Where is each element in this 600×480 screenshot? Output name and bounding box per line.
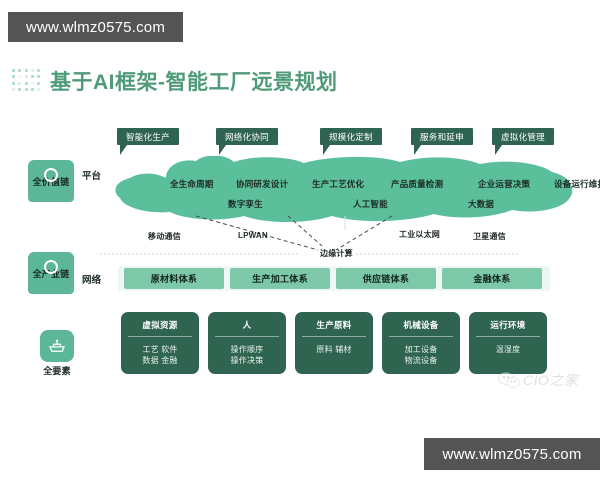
diagram-canvas: www.wlmz0575.com www.wlmz0575.com 基于AI框架… — [0, 0, 600, 480]
capability-ribbon[interactable]: 规模化定制 — [320, 128, 382, 145]
element-card-body: 工艺 软件数据 金融 — [121, 337, 199, 366]
network-system-bar[interactable]: 供应链体系 — [336, 268, 436, 289]
capability-ribbon[interactable]: 服务和延申 — [411, 128, 473, 145]
page-header: 基于AI框架-智能工厂远景规划 — [12, 66, 338, 96]
capability-ribbon-label: 智能化生产 — [126, 131, 170, 143]
capability-ribbon-label: 规模化定制 — [329, 131, 373, 143]
network-technology-label: 移动通信 — [148, 231, 181, 242]
capability-ribbon-label: 服务和延申 — [420, 131, 464, 143]
capability-ribbon-label: 虚拟化管理 — [501, 131, 545, 143]
value-chain-icon: 全价值链 — [28, 160, 74, 202]
stage-value-chain[interactable]: 全价值链 — [28, 160, 74, 202]
element-card-title: 运行环境 — [469, 312, 547, 331]
cio-logo: CIO之家 — [498, 370, 578, 390]
element-card[interactable]: 运行环境温湿度 — [469, 312, 547, 374]
element-card-title: 虚拟资源 — [121, 312, 199, 331]
element-card[interactable]: 生产原料原料 辅材 — [295, 312, 373, 374]
wechat-icon — [498, 372, 520, 388]
element-card-line: 操作顺序 — [208, 344, 286, 355]
element-card-line: 加工设备 — [382, 344, 460, 355]
platform-capability-label: 企业运营决策 — [478, 178, 530, 190]
platform-technology-label: 人工智能 — [353, 198, 388, 210]
page-title: 基于AI框架-智能工厂远景规划 — [50, 66, 338, 96]
element-card[interactable]: 虚拟资源工艺 软件数据 金融 — [121, 312, 199, 374]
element-card-body: 温湿度 — [469, 337, 547, 355]
element-card-line: 数据 金融 — [121, 355, 199, 366]
network-technology-label: 边缘计算 — [320, 248, 353, 259]
element-card-line: 操作决策 — [208, 355, 286, 366]
platform-capability-label: 产品质量检测 — [391, 178, 443, 190]
element-card-title: 生产原料 — [295, 312, 373, 331]
capability-ribbon[interactable]: 智能化生产 — [117, 128, 179, 145]
network-system-bar[interactable]: 金融体系 — [442, 268, 542, 289]
platform-capability-label: 协同研发设计 — [236, 178, 288, 190]
ribbon-tail — [120, 145, 127, 155]
element-card-body: 原料 辅材 — [295, 337, 373, 355]
ship-icon — [40, 330, 74, 362]
cloud-shape-icon — [108, 156, 578, 226]
platform-cloud: 全生命周期协同研发设计生产工艺优化产品质量检测企业运营决策设备运行维护 数字孪生… — [108, 156, 578, 226]
ribbon-tail — [414, 145, 421, 155]
stage-label: 全价值链 — [28, 175, 74, 188]
element-card-line: 物流设备 — [382, 355, 460, 366]
tier-label-platform: 平台 — [82, 168, 101, 182]
stage-label: 全产业链 — [28, 267, 74, 280]
stage-industry-chain[interactable]: 全产业链 — [28, 252, 74, 294]
network-system-bar-label: 供应链体系 — [363, 272, 410, 285]
platform-capability-label: 生产工艺优化 — [312, 178, 364, 190]
watermark-top: www.wlmz0575.com — [8, 12, 183, 42]
platform-technology-label: 数字孪生 — [228, 198, 263, 210]
platform-capability-label: 设备运行维护 — [554, 178, 600, 190]
platform-capability-label: 全生命周期 — [170, 178, 214, 190]
element-card-title: 人 — [208, 312, 286, 331]
ribbon-tail — [323, 145, 330, 155]
cio-logo-text: CIO之家 — [523, 370, 578, 390]
network-system-bar[interactable]: 生产加工体系 — [230, 268, 330, 289]
stage-all-elements[interactable]: 全要素 — [34, 330, 80, 377]
element-card-line: 工艺 软件 — [121, 344, 199, 355]
ship-glyph-icon — [48, 339, 66, 353]
watermark-bottom: www.wlmz0575.com — [424, 438, 600, 470]
industry-chain-icon: 全产业链 — [28, 252, 74, 294]
capability-ribbon-label: 网络化协同 — [225, 131, 269, 143]
capability-ribbon[interactable]: 网络化协同 — [216, 128, 278, 145]
network-technology-label: LPWAN — [238, 231, 268, 240]
stage-label: 全要素 — [34, 364, 80, 377]
capability-ribbon[interactable]: 虚拟化管理 — [492, 128, 554, 145]
element-card[interactable]: 机械设备加工设备物流设备 — [382, 312, 460, 374]
element-card-line: 温湿度 — [469, 344, 547, 355]
element-card-line: 原料 辅材 — [295, 344, 373, 355]
network-system-bar-label: 生产加工体系 — [252, 272, 308, 285]
ribbon-tail — [219, 145, 226, 155]
element-card-body: 加工设备物流设备 — [382, 337, 460, 366]
network-system-bar[interactable]: 原材料体系 — [124, 268, 224, 289]
element-card-title: 机械设备 — [382, 312, 460, 331]
dot-grid-icon — [12, 69, 42, 93]
network-technology-label: 卫星通信 — [473, 231, 506, 242]
ribbon-tail — [495, 145, 502, 155]
element-card-body: 操作顺序操作决策 — [208, 337, 286, 366]
tier-label-network: 网络 — [82, 272, 101, 286]
platform-technology-label: 大数据 — [468, 198, 494, 210]
network-technology-label: 工业以太网 — [399, 229, 440, 240]
network-system-bar-label: 原材料体系 — [151, 272, 198, 285]
network-system-bar-label: 金融体系 — [473, 272, 510, 285]
element-card[interactable]: 人操作顺序操作决策 — [208, 312, 286, 374]
